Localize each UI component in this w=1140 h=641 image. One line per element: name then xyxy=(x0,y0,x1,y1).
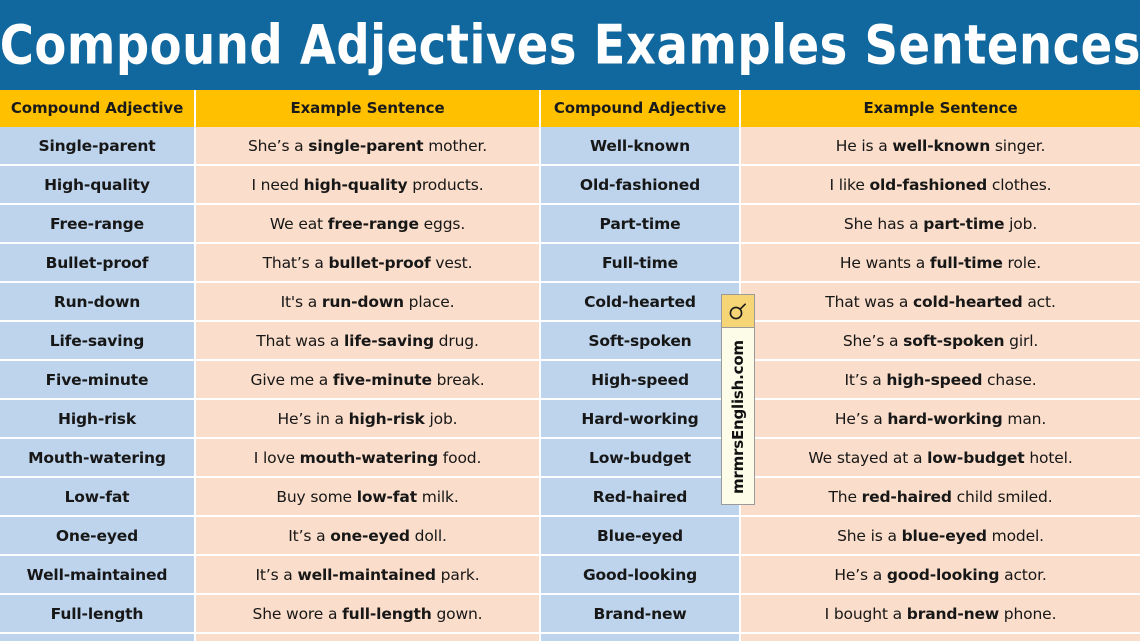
table-row: Mouth-wateringI love mouth-watering food… xyxy=(0,438,1140,477)
cell-sentence-left: I need high-quality products. xyxy=(195,165,540,204)
sentence-prefix: The xyxy=(828,488,861,506)
table-row: Free-rangeWe eat free-range eggs.Part-ti… xyxy=(0,204,1140,243)
sentence-suffix: actor. xyxy=(999,566,1046,584)
sentence-prefix: He’s a xyxy=(835,410,888,428)
sentence-suffix: job. xyxy=(425,410,458,428)
sentence-highlight: free-range xyxy=(328,215,419,233)
sentence-highlight: low-budget xyxy=(927,449,1024,467)
cell-adjective-right: Green-eyed xyxy=(540,633,740,641)
cell-sentence-left: I love mouth-watering food. xyxy=(195,438,540,477)
sentence-suffix: park. xyxy=(436,566,480,584)
sentence-suffix: man. xyxy=(1003,410,1047,428)
table-header: Compound Adjective Example Sentence Comp… xyxy=(0,90,1140,127)
cell-adjective-right: Low-budget xyxy=(540,438,740,477)
sentence-prefix: She has a xyxy=(844,215,923,233)
sentence-highlight: brand-new xyxy=(907,605,999,623)
column-header-compound-adjective-left: Compound Adjective xyxy=(0,90,195,127)
sentence-prefix: Give me a xyxy=(250,371,332,389)
sentence-highlight: run-down xyxy=(322,293,404,311)
sentence-highlight: old-fashioned xyxy=(870,176,988,194)
cell-sentence-left: This tool is easy-to-use. xyxy=(195,633,540,641)
column-header-compound-adjective-right: Compound Adjective xyxy=(540,90,740,127)
cell-adjective-right: Part-time xyxy=(540,204,740,243)
sentence-suffix: gown. xyxy=(432,605,483,623)
watermark-badge: mrmrsEnglish.com xyxy=(721,294,755,505)
table-row: Life-savingThat was a life-saving drug.S… xyxy=(0,321,1140,360)
cell-sentence-right: He’s a hard-working man. xyxy=(740,399,1140,438)
sentence-highlight: life-saving xyxy=(344,332,434,350)
page-title: Compound Adjectives Examples Sentences xyxy=(0,13,1140,77)
watermark-text: mrmrsEnglish.com xyxy=(729,328,747,504)
cell-adjective-left: Run-down xyxy=(0,282,195,321)
sentence-prefix: He’s in a xyxy=(278,410,349,428)
cell-sentence-left: It’s a well-maintained park. xyxy=(195,555,540,594)
sentence-prefix: I bought a xyxy=(825,605,907,623)
sentence-prefix: She is a xyxy=(837,527,902,545)
sentence-suffix: clothes. xyxy=(987,176,1051,194)
cell-adjective-right: Brand-new xyxy=(540,594,740,633)
cell-sentence-right: The red-haired child smiled. xyxy=(740,477,1140,516)
cell-adjective-left: Single-parent xyxy=(0,127,195,166)
sentence-highlight: mouth-watering xyxy=(300,449,438,467)
cell-adjective-right: Soft-spoken xyxy=(540,321,740,360)
sentence-prefix: She’s a xyxy=(843,332,903,350)
cell-adjective-right: Cold-hearted xyxy=(540,282,740,321)
cell-sentence-right: It’s a high-speed chase. xyxy=(740,360,1140,399)
column-header-example-sentence-left: Example Sentence xyxy=(195,90,540,127)
sentence-suffix: vest. xyxy=(431,254,473,272)
page-root: Compound Adjectives Examples Sentences C… xyxy=(0,0,1140,641)
sentence-suffix: job. xyxy=(1004,215,1037,233)
sentence-prefix: That was a xyxy=(825,293,913,311)
sentence-suffix: role. xyxy=(1003,254,1041,272)
table-row: High-riskHe’s in a high-risk job.Hard-wo… xyxy=(0,399,1140,438)
cell-sentence-left: We eat free-range eggs. xyxy=(195,204,540,243)
cell-sentence-left: That was a life-saving drug. xyxy=(195,321,540,360)
sentence-suffix: eggs. xyxy=(419,215,465,233)
cell-adjective-left: Easy-to-use xyxy=(0,633,195,641)
table-row: Single-parentShe’s a single-parent mothe… xyxy=(0,127,1140,166)
cell-sentence-left: He’s in a high-risk job. xyxy=(195,399,540,438)
sentence-prefix: It’s a xyxy=(255,566,297,584)
sentence-prefix: She wore a xyxy=(253,605,343,623)
sentence-highlight: one-eyed xyxy=(330,527,410,545)
sentence-highlight: bullet-proof xyxy=(328,254,430,272)
cell-sentence-right: The green-eyed boy stared. xyxy=(740,633,1140,641)
header-row: Compound Adjective Example Sentence Comp… xyxy=(0,90,1140,127)
sentence-suffix: break. xyxy=(432,371,485,389)
cell-sentence-right: She has a part-time job. xyxy=(740,204,1140,243)
sentence-suffix: milk. xyxy=(417,488,459,506)
cell-adjective-left: Full-length xyxy=(0,594,195,633)
table-row: Full-lengthShe wore a full-length gown.B… xyxy=(0,594,1140,633)
table-body: Single-parentShe’s a single-parent mothe… xyxy=(0,127,1140,641)
sentence-highlight: full-length xyxy=(342,605,432,623)
cell-sentence-right: He is a well-known singer. xyxy=(740,127,1140,166)
cell-sentence-left: That’s a bullet-proof vest. xyxy=(195,243,540,282)
cell-sentence-left: It's a run-down place. xyxy=(195,282,540,321)
sentence-highlight: cold-hearted xyxy=(913,293,1023,311)
cell-adjective-left: Life-saving xyxy=(0,321,195,360)
sentence-suffix: model. xyxy=(987,527,1044,545)
cell-adjective-left: One-eyed xyxy=(0,516,195,555)
sentence-highlight: single-parent xyxy=(308,137,423,155)
cell-sentence-right: We stayed at a low-budget hotel. xyxy=(740,438,1140,477)
cell-sentence-right: She is a blue-eyed model. xyxy=(740,516,1140,555)
sentence-highlight: high-risk xyxy=(349,410,425,428)
sentence-suffix: food. xyxy=(438,449,481,467)
sentence-prefix: Buy some xyxy=(276,488,356,506)
sentence-highlight: blue-eyed xyxy=(902,527,987,545)
cell-adjective-left: Five-minute xyxy=(0,360,195,399)
sentence-suffix: place. xyxy=(404,293,455,311)
sentence-prefix: We eat xyxy=(270,215,328,233)
sentence-prefix: That’s a xyxy=(263,254,329,272)
cell-sentence-right: I like old-fashioned clothes. xyxy=(740,165,1140,204)
sentence-suffix: girl. xyxy=(1004,332,1038,350)
cell-adjective-right: Good-looking xyxy=(540,555,740,594)
sentence-highlight: part-time xyxy=(923,215,1004,233)
sentence-suffix: hotel. xyxy=(1025,449,1073,467)
cell-sentence-left: Buy some low-fat milk. xyxy=(195,477,540,516)
cell-adjective-right: Hard-working xyxy=(540,399,740,438)
sentence-prefix: She’s a xyxy=(248,137,308,155)
sentence-suffix: chase. xyxy=(982,371,1036,389)
cell-adjective-right: Full-time xyxy=(540,243,740,282)
sentence-suffix: act. xyxy=(1023,293,1056,311)
cell-adjective-right: Well-known xyxy=(540,127,740,166)
sentence-prefix: I love xyxy=(254,449,300,467)
sentence-prefix: He wants a xyxy=(840,254,930,272)
sentence-prefix: It’s a xyxy=(288,527,330,545)
sentence-suffix: singer. xyxy=(990,137,1045,155)
table-row: Run-downIt's a run-down place.Cold-heart… xyxy=(0,282,1140,321)
compound-adjectives-table: Compound Adjective Example Sentence Comp… xyxy=(0,90,1140,641)
cell-sentence-left: She’s a single-parent mother. xyxy=(195,127,540,166)
sentence-suffix: phone. xyxy=(999,605,1056,623)
table-row: Easy-to-useThis tool is easy-to-use.Gree… xyxy=(0,633,1140,641)
sentence-highlight: low-fat xyxy=(357,488,417,506)
cell-sentence-left: It’s a one-eyed doll. xyxy=(195,516,540,555)
sentence-prefix: We stayed at a xyxy=(808,449,927,467)
cell-sentence-right: I bought a brand-new phone. xyxy=(740,594,1140,633)
cell-adjective-left: Mouth-watering xyxy=(0,438,195,477)
table-row: High-qualityI need high-quality products… xyxy=(0,165,1140,204)
cell-sentence-right: He’s a good-looking actor. xyxy=(740,555,1140,594)
sentence-highlight: good-looking xyxy=(887,566,999,584)
sentence-highlight: hard-working xyxy=(887,410,1002,428)
cell-adjective-left: High-risk xyxy=(0,399,195,438)
cell-sentence-left: She wore a full-length gown. xyxy=(195,594,540,633)
sentence-suffix: products. xyxy=(407,176,483,194)
magnifier-icon xyxy=(722,295,754,328)
cell-adjective-left: Well-maintained xyxy=(0,555,195,594)
cell-adjective-left: Bullet-proof xyxy=(0,243,195,282)
cell-adjective-right: High-speed xyxy=(540,360,740,399)
sentence-prefix: That was a xyxy=(256,332,344,350)
sentence-suffix: drug. xyxy=(434,332,479,350)
cell-sentence-left: Give me a five-minute break. xyxy=(195,360,540,399)
sentence-prefix: It’s a xyxy=(844,371,886,389)
sentence-prefix: He’s a xyxy=(834,566,887,584)
cell-sentence-right: That was a cold-hearted act. xyxy=(740,282,1140,321)
column-header-example-sentence-right: Example Sentence xyxy=(740,90,1140,127)
sentence-highlight: red-haired xyxy=(862,488,952,506)
sentence-prefix: I like xyxy=(830,176,870,194)
sentence-prefix: He is a xyxy=(836,137,893,155)
table-row: Low-fatBuy some low-fat milk.Red-hairedT… xyxy=(0,477,1140,516)
cell-adjective-left: Low-fat xyxy=(0,477,195,516)
table-row: Bullet-proofThat’s a bullet-proof vest.F… xyxy=(0,243,1140,282)
table-row: Five-minuteGive me a five-minute break.H… xyxy=(0,360,1140,399)
sentence-suffix: doll. xyxy=(410,527,447,545)
sentence-highlight: high-quality xyxy=(304,176,408,194)
cell-adjective-right: Red-haired xyxy=(540,477,740,516)
sentence-highlight: high-speed xyxy=(886,371,982,389)
cell-adjective-right: Blue-eyed xyxy=(540,516,740,555)
table-row: One-eyedIt’s a one-eyed doll.Blue-eyedSh… xyxy=(0,516,1140,555)
title-banner: Compound Adjectives Examples Sentences xyxy=(0,0,1140,90)
cell-sentence-right: She’s a soft-spoken girl. xyxy=(740,321,1140,360)
cell-adjective-right: Old-fashioned xyxy=(540,165,740,204)
table-row: Well-maintainedIt’s a well-maintained pa… xyxy=(0,555,1140,594)
sentence-highlight: soft-spoken xyxy=(903,332,1004,350)
sentence-prefix: I need xyxy=(251,176,303,194)
sentence-highlight: well-maintained xyxy=(297,566,435,584)
sentence-highlight: five-minute xyxy=(333,371,432,389)
cell-adjective-left: Free-range xyxy=(0,204,195,243)
sentence-suffix: child smiled. xyxy=(952,488,1053,506)
cell-adjective-left: High-quality xyxy=(0,165,195,204)
cell-sentence-right: He wants a full-time role. xyxy=(740,243,1140,282)
sentence-suffix: mother. xyxy=(423,137,487,155)
sentence-highlight: well-known xyxy=(892,137,990,155)
sentence-prefix: It's a xyxy=(281,293,322,311)
sentence-highlight: full-time xyxy=(930,254,1003,272)
table-container: Compound Adjective Example Sentence Comp… xyxy=(0,90,1140,641)
